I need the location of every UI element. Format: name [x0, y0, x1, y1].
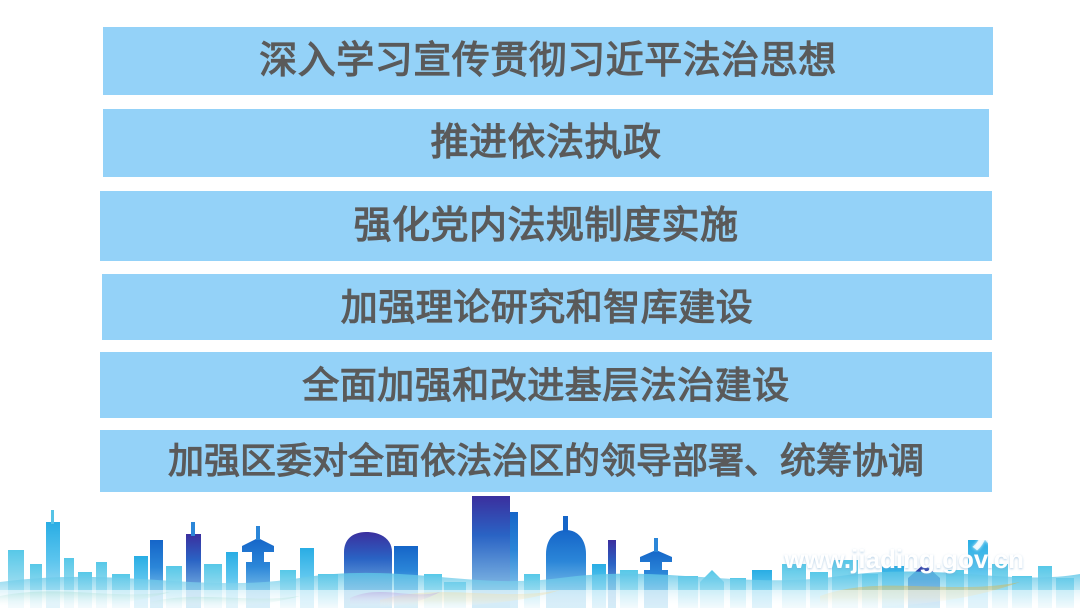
city-skyline-illustration	[0, 478, 1080, 608]
slogan-bar-3: 强化党内法规制度实施	[100, 191, 992, 261]
slogan-bar-5: 全面加强和改进基层法治建设	[100, 352, 992, 418]
site-url-watermark: www.jiading.gov.cn	[784, 544, 1024, 575]
slogan-bar-1-label: 深入学习宣传贯彻习近平法治思想	[259, 42, 837, 80]
poster-canvas: 深入学习宣传贯彻习近平法治思想 推进依法执政 强化党内法规制度实施 加强理论研究…	[0, 0, 1080, 608]
slogan-bar-5-label: 全面加强和改进基层法治建设	[302, 367, 790, 404]
slogan-bar-6-label: 加强区委对全面依法治区的领导部署、统筹协调	[168, 443, 924, 479]
slogan-bar-2-label: 推进依法执政	[430, 124, 661, 162]
slogan-bar-2: 推进依法执政	[103, 109, 989, 177]
slogan-bar-4: 加强理论研究和智库建设	[102, 274, 992, 340]
slogan-bar-1: 深入学习宣传贯彻习近平法治思想	[103, 27, 993, 95]
slogan-bar-3-label: 强化党内法规制度实施	[353, 207, 738, 245]
slogan-bar-6: 加强区委对全面依法治区的领导部署、统筹协调	[100, 430, 992, 492]
slogan-bar-4-label: 加强理论研究和智库建设	[341, 289, 754, 326]
